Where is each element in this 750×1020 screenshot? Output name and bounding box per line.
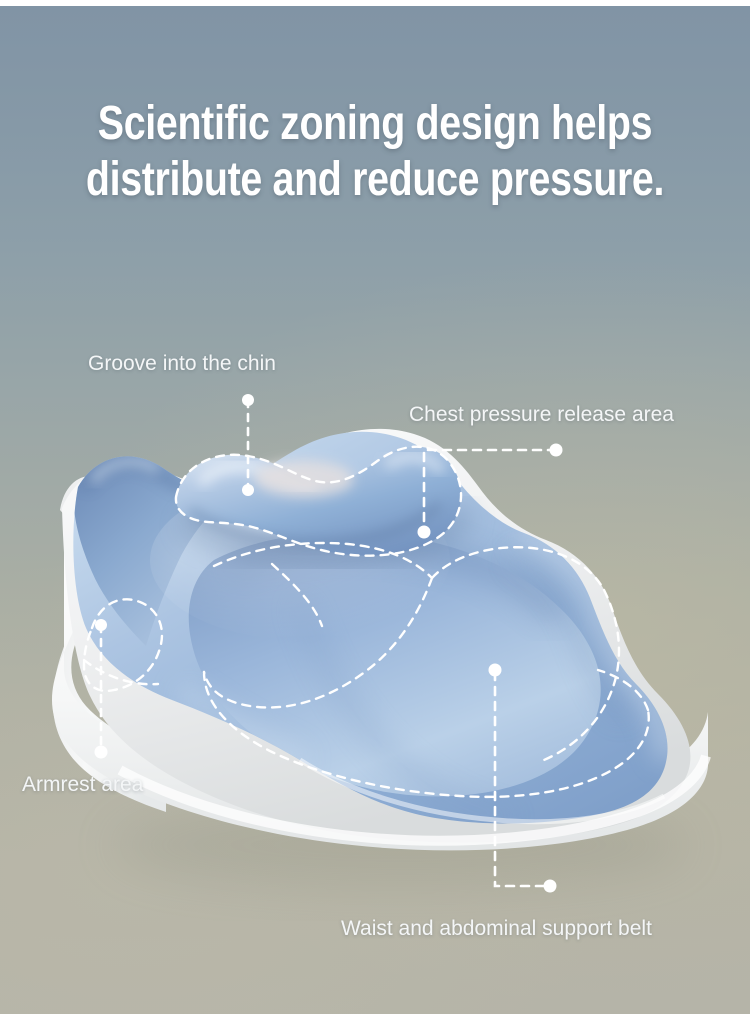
callout-label-waist: Waist and abdominal support belt	[341, 916, 652, 942]
callout-label-chest: Chest pressure release area	[409, 402, 674, 428]
page-title: Scientific zoning design helps distribut…	[68, 96, 683, 208]
callout-label-chin: Groove into the chin	[88, 351, 276, 377]
callout-label-armrest: Armrest area	[22, 772, 143, 798]
product-feature-poster: Scientific zoning design helps distribut…	[0, 0, 750, 1020]
